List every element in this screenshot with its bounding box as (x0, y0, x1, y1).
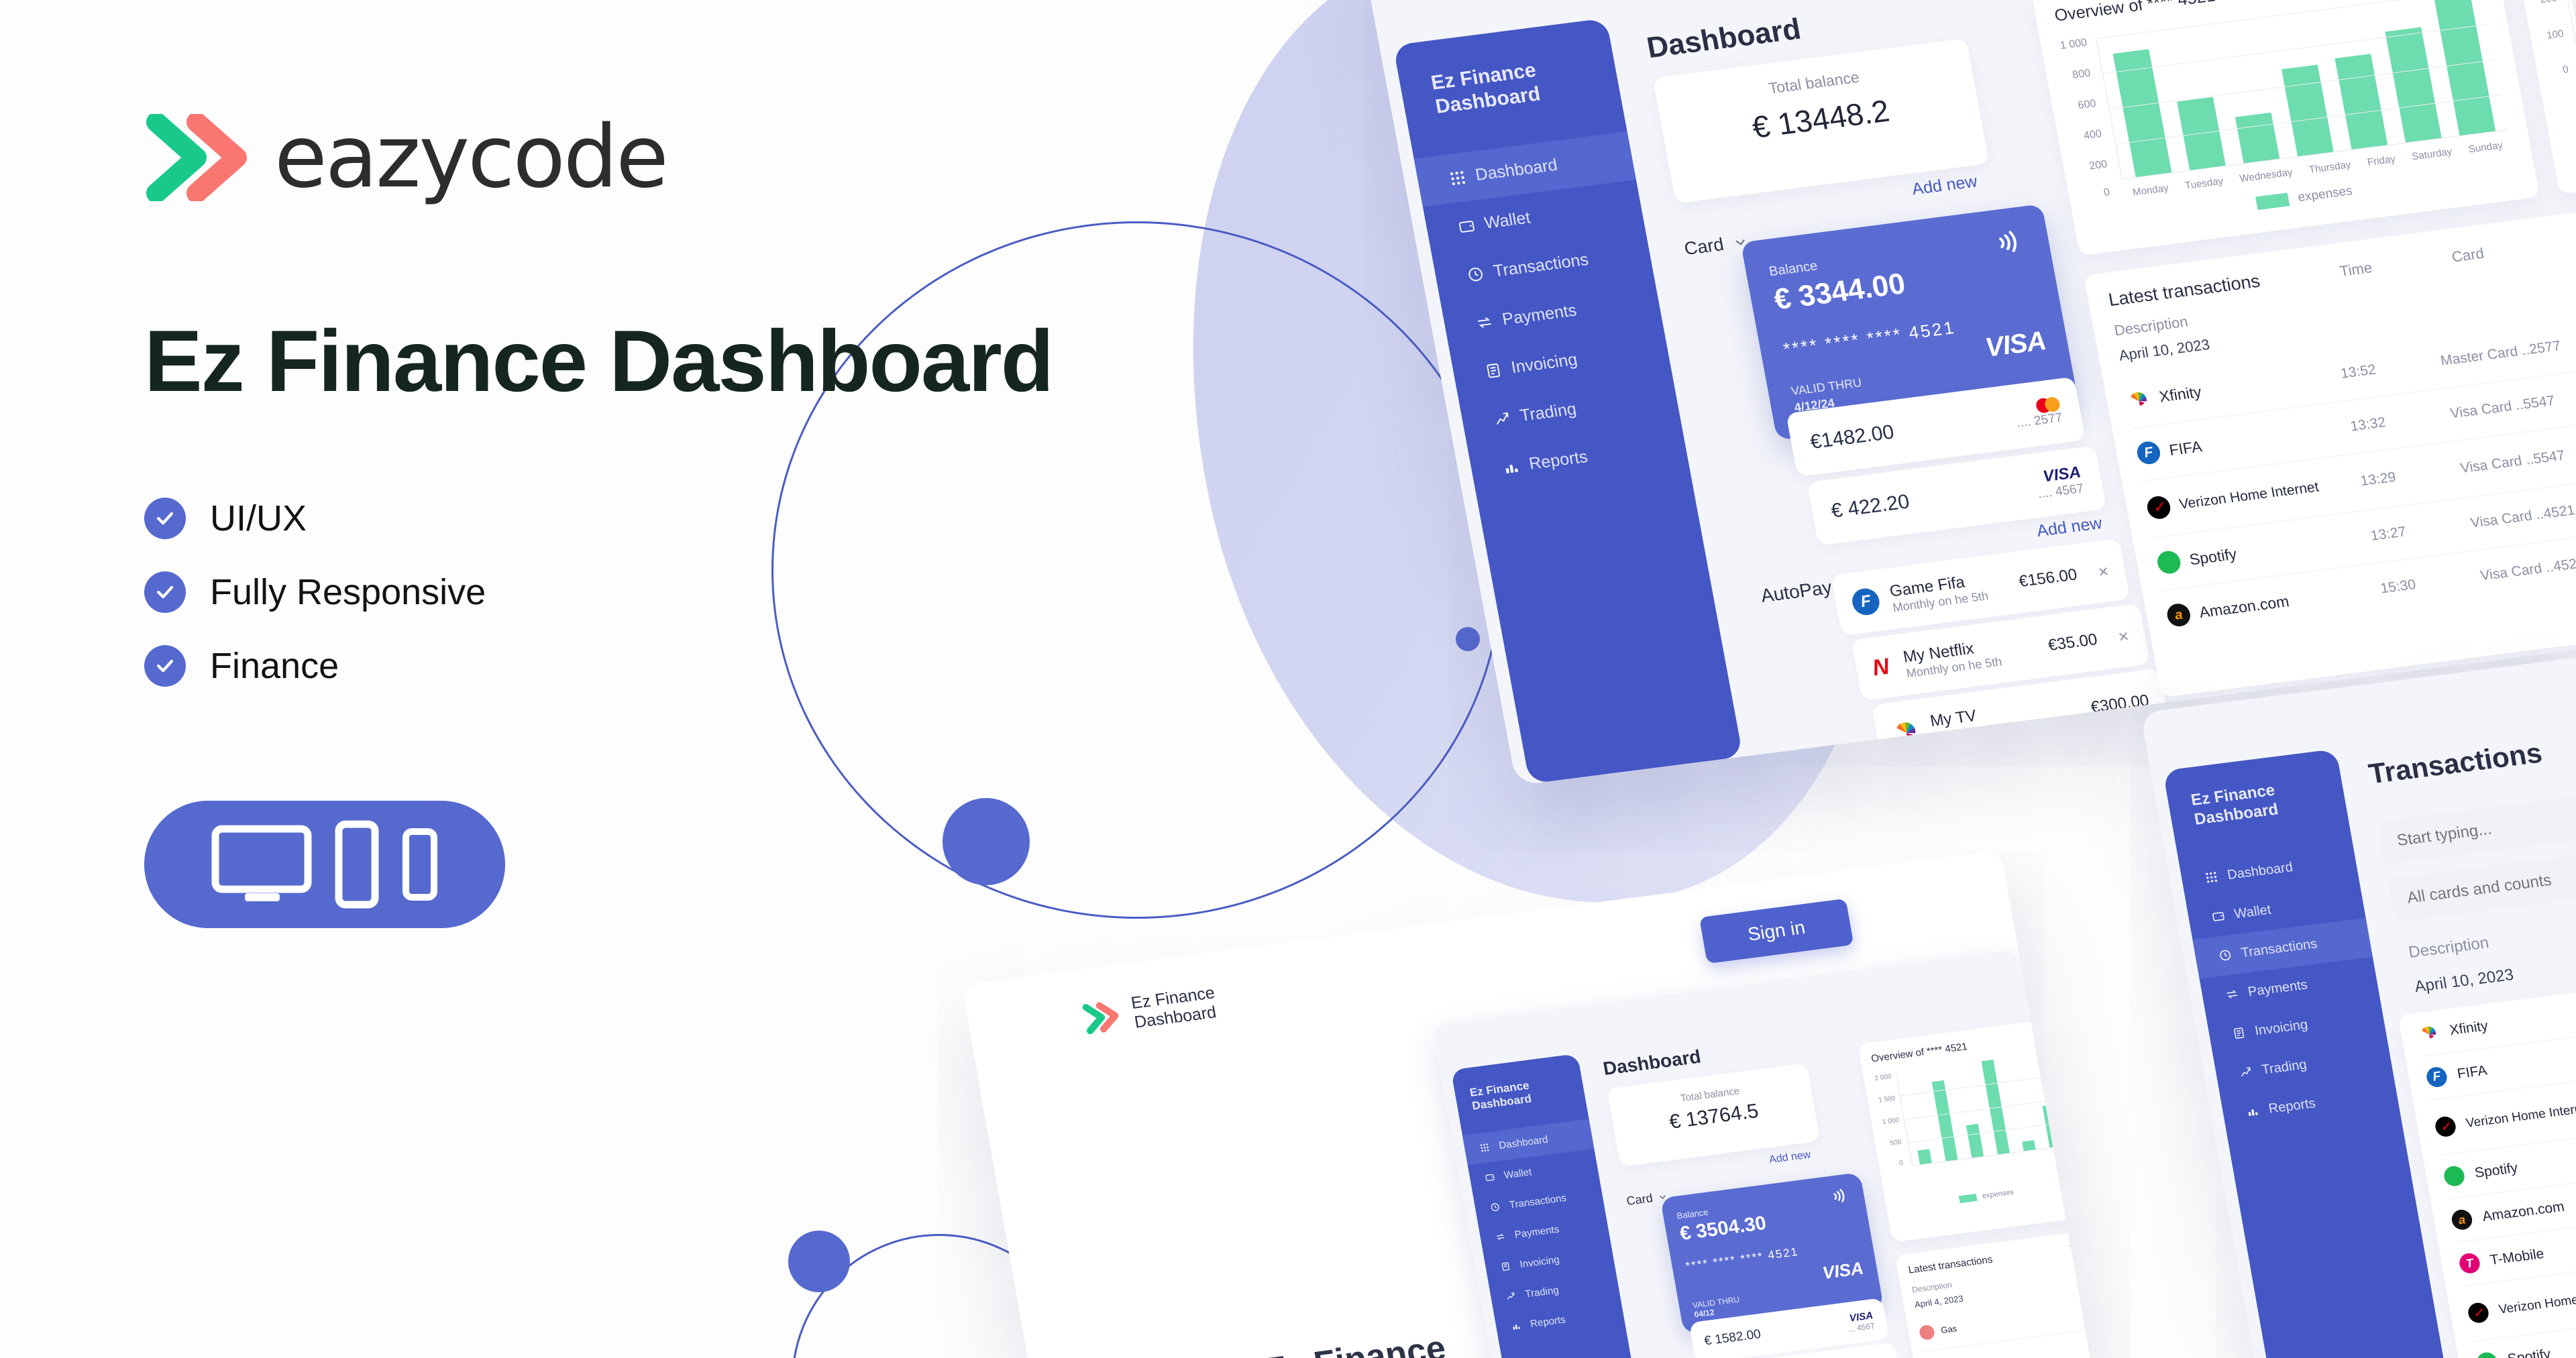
y-tick-label: 0 (2103, 186, 2111, 199)
y-tick-label: 200 (2088, 158, 2108, 172)
y-tick-label: 100 (2546, 28, 2565, 42)
add-new-card-link[interactable]: Add new (1911, 172, 1979, 199)
wallet-icon (1484, 1172, 1495, 1183)
clock-icon (1489, 1201, 1501, 1212)
autopay-amount: €156.00 (2017, 565, 2078, 591)
grid-icon (1448, 168, 1468, 188)
card-section-label: Card (1625, 1191, 1654, 1208)
y-tick-label: 0 (1898, 1159, 1903, 1168)
column-header-time: Time (2069, 1241, 2088, 1255)
autopay-amount: €300.00 (2090, 691, 2151, 718)
sidebar-item-label: Reports (2267, 1096, 2317, 1117)
transfer-icon (2224, 987, 2240, 1002)
list-item: Finance (144, 645, 1150, 687)
autopay-amount: €35.00 (2047, 630, 2099, 655)
close-icon[interactable]: × (2096, 561, 2110, 582)
sidebar-item-label: Wallet (2233, 902, 2272, 922)
page-heading: Transactions (2366, 737, 2544, 791)
verizon-icon: ✓ (2467, 1302, 2490, 1324)
sidebar-brand-title: Ez Finance Dashboard (1454, 1072, 1586, 1116)
x-tick-label: Saturday (2411, 146, 2453, 162)
bar (2434, 0, 2495, 135)
search-input[interactable] (2377, 777, 2576, 864)
autopay-name: My TV (1929, 693, 2080, 731)
dashboard-mockup[interactable]: Ez Finance Dashboard Dashboard Wallet (1362, 0, 2576, 785)
bar-chart-icon (1501, 457, 1521, 476)
y-tick-label: 200 (2539, 0, 2558, 5)
spotify-icon (2155, 550, 2182, 575)
row-description: T-Mobile (2489, 1246, 2545, 1269)
page-heading: Dashboard (1644, 13, 1803, 65)
card-section-header[interactable]: Card (1682, 231, 1750, 260)
row-description: Amazon.com (2198, 592, 2290, 622)
column-header-card: Card (2451, 245, 2485, 266)
sidebar-item-label: Dashboard (2226, 860, 2294, 883)
legend-swatch (1959, 1193, 1978, 1202)
row-description: Xfinity (2449, 1018, 2489, 1039)
latest-transactions-card: Latest transactions Time Description Apr… (1895, 1230, 2124, 1358)
netflix-icon: N (1870, 653, 1895, 681)
y-tick-label: 1 000 (2059, 37, 2088, 52)
transactions-date: April 10, 2023 (2413, 966, 2515, 997)
desktop-icon (211, 825, 312, 904)
feature-label: Fully Responsive (210, 571, 486, 613)
transfer-icon (1495, 1231, 1506, 1243)
inner-dashboard-preview[interactable]: Ez Finance Dashboard Dashboard Wallet Tr… (1432, 949, 2125, 1358)
bar (2043, 1104, 2062, 1147)
feature-label: Finance (210, 645, 339, 687)
grid-icon (2204, 870, 2219, 885)
sidebar-item-label: Payments (1501, 301, 1578, 330)
y-tick-label: 600 (2077, 98, 2097, 112)
nbc-icon (2417, 1022, 2440, 1044)
landing-hero-title: Discover Ez Finance Dashboard! (1105, 1326, 1466, 1358)
bar (2177, 97, 2226, 170)
bar (2235, 112, 2279, 163)
card-row-last4: .... 2577 (2015, 410, 2063, 431)
autopay-title: AutoPay (1759, 577, 1833, 607)
fifa-icon: F (2135, 440, 2162, 465)
latest-transactions-card: Latest transactions Time Card Category D… (2084, 188, 2576, 697)
close-icon[interactable]: × (2116, 626, 2131, 647)
page-title: Ez Finance Dashboard (144, 315, 1150, 407)
x-tick-label: Monday (2132, 182, 2169, 199)
fifa-icon: F (2425, 1066, 2449, 1088)
sidebar-item-label: Dashboard (1474, 156, 1559, 185)
sidebar-item-label: Wallet (1503, 1166, 1533, 1181)
sidebar-item-label: Transactions (1509, 1192, 1568, 1211)
tmobile-icon: T (2458, 1252, 2481, 1274)
y-tick-label: 500 (1890, 1139, 1902, 1147)
x-tick-label: Tuesday (2184, 176, 2224, 192)
y-tick-label: 1 500 (1878, 1095, 1896, 1105)
contactless-icon (1993, 223, 2031, 259)
overview-chart-card: Overview of **** 4521 1 000 800 600 400 … (2031, 0, 2540, 256)
sidebar-nav[interactable]: Dashboard Wallet Transactions (1414, 131, 1690, 496)
chevron-logo-icon (1081, 999, 1125, 1035)
card-row-amount: €1482.00 (1809, 421, 1896, 454)
fifa-icon: F (1850, 587, 1882, 616)
transactions-mockup[interactable]: Ez Finance Dashboard Dashboard Wallet Tr… (2140, 640, 2576, 1358)
logo-wordmark: eazycode (274, 115, 667, 201)
x-tick-label: Wednesday (2239, 166, 2294, 184)
decorative-dot-medium (788, 1231, 850, 1292)
bar-chart: 300 200 100 0 Monday Tuesday Wednesday (2530, 0, 2576, 124)
bar-chart-icon (1510, 1320, 1521, 1332)
sidebar-item-label: Invoicing (1509, 350, 1578, 378)
column-header-description: Description (2407, 933, 2490, 962)
grid-icon (1479, 1142, 1490, 1153)
visa-logo: VISA (1821, 1258, 1865, 1284)
y-tick-label: 2 000 (1874, 1073, 1892, 1082)
check-icon (144, 571, 186, 613)
tablet-icon (335, 820, 379, 909)
row-description: FIFA (2167, 437, 2203, 459)
row-description: Verizon Home Internet (2498, 1287, 2576, 1317)
bar-chart-icon (2245, 1104, 2260, 1119)
wallet-icon (2210, 909, 2226, 923)
trading-icon (1492, 409, 1513, 429)
y-tick-label: 400 (2083, 128, 2103, 142)
legend-label: expenses (1982, 1188, 2015, 1200)
check-icon (144, 645, 186, 687)
sidebar-item-label: Transactions (2240, 936, 2318, 961)
row-description: Amazon.com (2481, 1198, 2566, 1225)
bar (2334, 54, 2387, 150)
column-header-time: Time (2339, 259, 2374, 280)
clock-icon (1465, 264, 1486, 284)
add-new-card-link[interactable]: Add new (1768, 1149, 1812, 1166)
transfer-icon (1474, 313, 1495, 332)
bar (1966, 1123, 1984, 1157)
amazon-icon: a (2165, 603, 2192, 628)
sign-in-button[interactable]: Sign in (1699, 899, 1854, 964)
sidebar-item-label: Payments (2247, 977, 2308, 1000)
transactions-title: Latest transactions (1908, 1254, 1994, 1276)
bar (2282, 64, 2334, 156)
landing-logo[interactable]: Ez Finance Dashboard (1080, 983, 1220, 1038)
card-row-amount: € 422.20 (1829, 490, 1911, 522)
row-description: FIFA (2456, 1062, 2488, 1082)
sidebar-item-label: Trading (1519, 400, 1578, 426)
sidebar-brand-title: Ez Finance Dashboard (2167, 773, 2347, 832)
decorative-dot-small (1456, 627, 1480, 651)
x-tick-label: Thursday (2308, 159, 2352, 176)
contactless-icon (1830, 1184, 1854, 1206)
y-tick-label: 0 (2562, 64, 2569, 76)
y-tick-label: 1 000 (1882, 1117, 1900, 1126)
list-item: UI/UX (144, 498, 1150, 539)
card-row-amount: € 1582.00 (1703, 1327, 1762, 1349)
page-heading: Dashboard (1601, 1046, 1703, 1080)
sidebar-item-label: Invoicing (2253, 1017, 2308, 1039)
trading-icon (2238, 1065, 2253, 1080)
poster-canvas: eazycode Ez Finance Dashboard UI/UX Full… (0, 0, 2576, 1358)
bar-chart: 2 000 1 500 1 000 500 0 (1874, 1052, 2075, 1201)
spotify-icon (2443, 1165, 2466, 1187)
row-description: Gas (1940, 1323, 1957, 1335)
row-description: Xfinity (2158, 383, 2203, 406)
wallet-icon (1456, 216, 1477, 235)
sidebar-item-label: Reports (1529, 1314, 1566, 1330)
clock-icon (2217, 948, 2233, 962)
y-tick-label: 800 (2072, 68, 2092, 82)
spotify-icon (2475, 1351, 2499, 1358)
responsive-devices-badge (144, 801, 505, 928)
feature-list: UI/UX Fully Responsive Finance (144, 498, 1150, 687)
sidebar-item-label: Dashboard (1498, 1134, 1549, 1151)
row-description: Spotify (2473, 1160, 2519, 1182)
sidebar-item-label: Payments (1513, 1223, 1560, 1240)
document-icon (1500, 1261, 1511, 1272)
amazon-icon: a (2450, 1208, 2473, 1231)
overview-chart-card: Overview of **** 4521 2 000 1 500 1 000 … (1858, 1018, 2092, 1242)
gas-icon (1919, 1324, 1936, 1341)
verizon-icon: ✓ (2145, 495, 2172, 520)
bar (1917, 1149, 1932, 1164)
chevron-logo-icon (144, 114, 252, 201)
bar (2565, 0, 2576, 68)
add-new-autopay-link[interactable]: Add new (2035, 514, 2104, 541)
row-description: Spotify (2506, 1346, 2552, 1358)
document-icon (1483, 361, 1504, 380)
legend-swatch (2255, 192, 2290, 210)
sidebar-item-label: Invoicing (1519, 1254, 1560, 1270)
legend-label: expenses (2297, 184, 2354, 205)
nbc-icon (2125, 387, 2152, 412)
feature-label: UI/UX (210, 498, 307, 539)
plot-area (1895, 1052, 2069, 1166)
sidebar-item-label: Transactions (1492, 250, 1591, 282)
row-description: Spotify (2188, 545, 2239, 568)
sidebar-brand-title: Ez Finance Dashboard (1399, 48, 1621, 123)
phone-icon (402, 828, 438, 901)
sidebar-item-label: Trading (1524, 1284, 1560, 1300)
trading-icon (1505, 1290, 1516, 1302)
list-item: Fully Responsive (144, 571, 1150, 613)
bar (1932, 1080, 1958, 1161)
row-description: Verizon Home Internet (2465, 1100, 2576, 1131)
bar (2022, 1140, 2035, 1151)
verizon-icon: ✓ (2434, 1115, 2457, 1137)
check-icon (144, 498, 186, 539)
row-description: Verizon Home Internet (2178, 479, 2320, 512)
x-tick-label: Friday (2367, 154, 2397, 168)
landing-logo-text: Ez Finance Dashboard (1130, 983, 1220, 1032)
document-icon (2231, 1026, 2247, 1041)
transactions-title: Latest transactions (2107, 271, 2262, 310)
card-section-label: Card (1682, 234, 1725, 260)
sidebar-item-label: Trading (2261, 1057, 2308, 1078)
nbc-icon (1890, 717, 1922, 746)
hero-column: eazycode Ez Finance Dashboard UI/UX Full… (144, 114, 1150, 928)
sidebar-item-label: Reports (1527, 447, 1589, 474)
card-row-last4: .... 4567 (2037, 482, 2085, 502)
sidebar-item-label: Wallet (1483, 209, 1532, 233)
x-tick-label: Sunday (2468, 139, 2504, 155)
eazycode-logo: eazycode (144, 114, 1150, 201)
bar (2385, 27, 2441, 142)
